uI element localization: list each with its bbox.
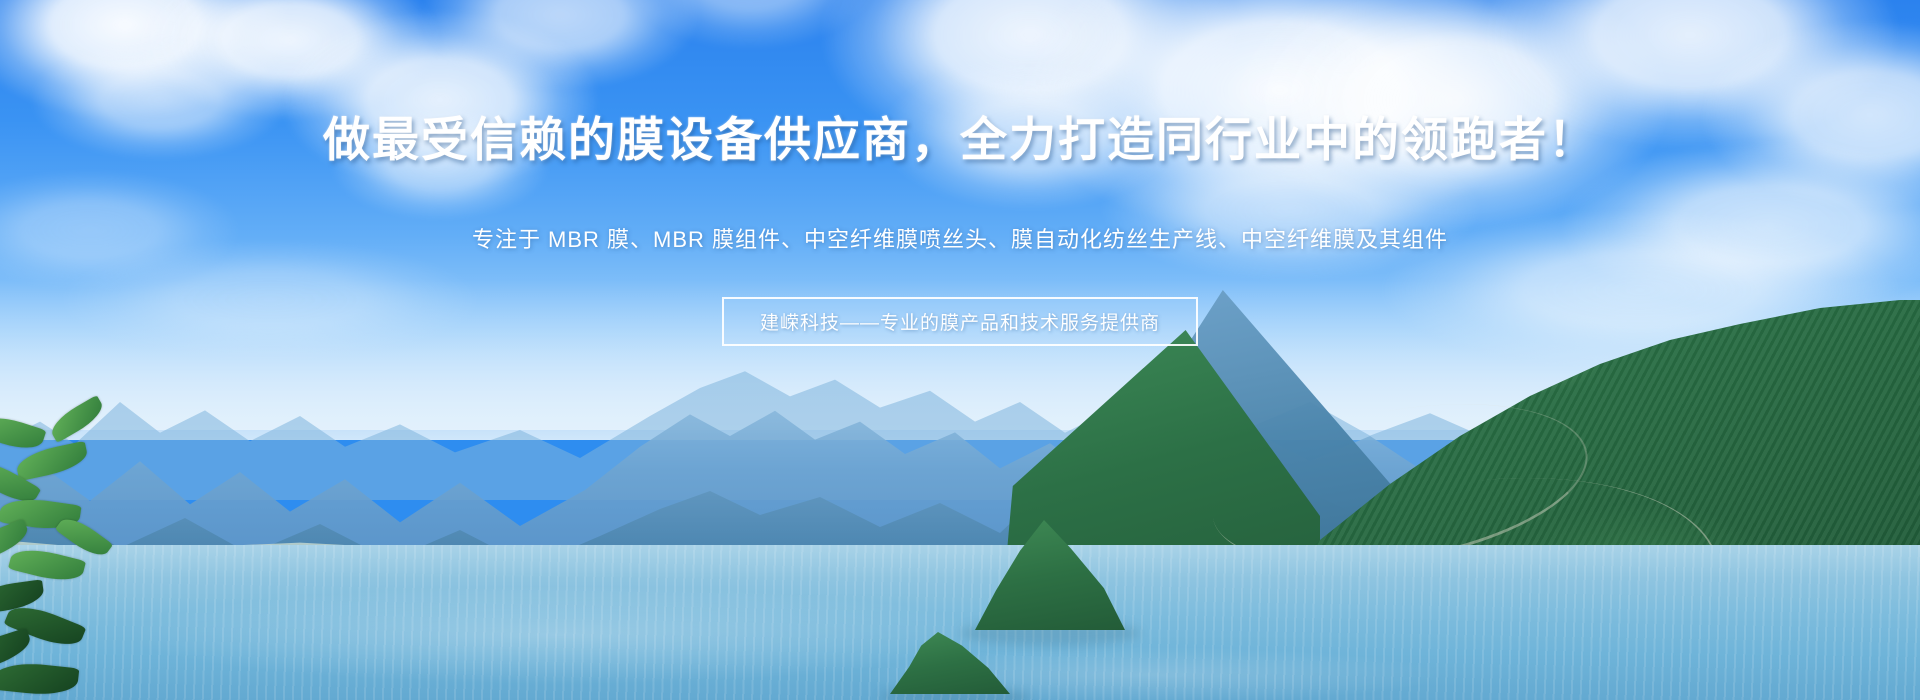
slogan-container: 建嵘科技——专业的膜产品和技术服务提供商: [0, 297, 1920, 346]
page-title: 做最受信赖的膜设备供应商，全力打造同行业中的领跑者！: [0, 112, 1920, 168]
banner-content: 做最受信赖的膜设备供应商，全力打造同行业中的领跑者！ 专注于 MBR 膜、MBR…: [0, 0, 1920, 700]
hero-banner: 做最受信赖的膜设备供应商，全力打造同行业中的领跑者！ 专注于 MBR 膜、MBR…: [0, 0, 1920, 700]
banner-subtitle: 专注于 MBR 膜、MBR 膜组件、中空纤维膜喷丝头、膜自动化纺丝生产线、中空纤…: [0, 222, 1920, 254]
company-slogan-box: 建嵘科技——专业的膜产品和技术服务提供商: [722, 297, 1198, 346]
